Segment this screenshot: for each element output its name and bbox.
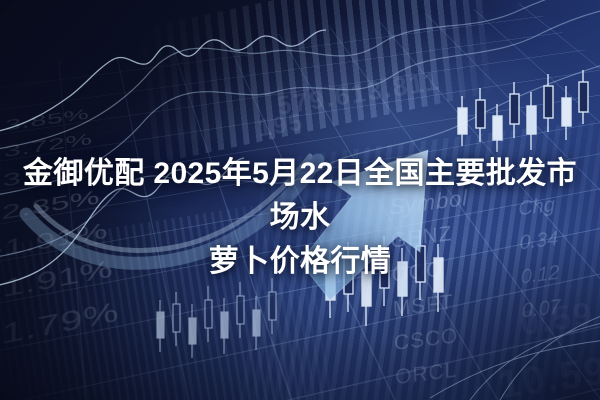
candlestick-chart-right <box>458 70 588 152</box>
headline-line-2: 萝卜价格行情 <box>14 240 586 284</box>
headline-line-1: 金御优配 2025年5月22日全国主要批发市场水 <box>14 152 586 240</box>
candlestick-chart-left <box>157 278 276 358</box>
headline-block: 金御优配 2025年5月22日全国主要批发市场水 萝卜价格行情 <box>0 152 600 284</box>
crossing-diagonals <box>430 314 600 400</box>
banner-image: +$0.250 3.85% +$0.230 3.72% +$0.130 3.61… <box>0 0 600 400</box>
